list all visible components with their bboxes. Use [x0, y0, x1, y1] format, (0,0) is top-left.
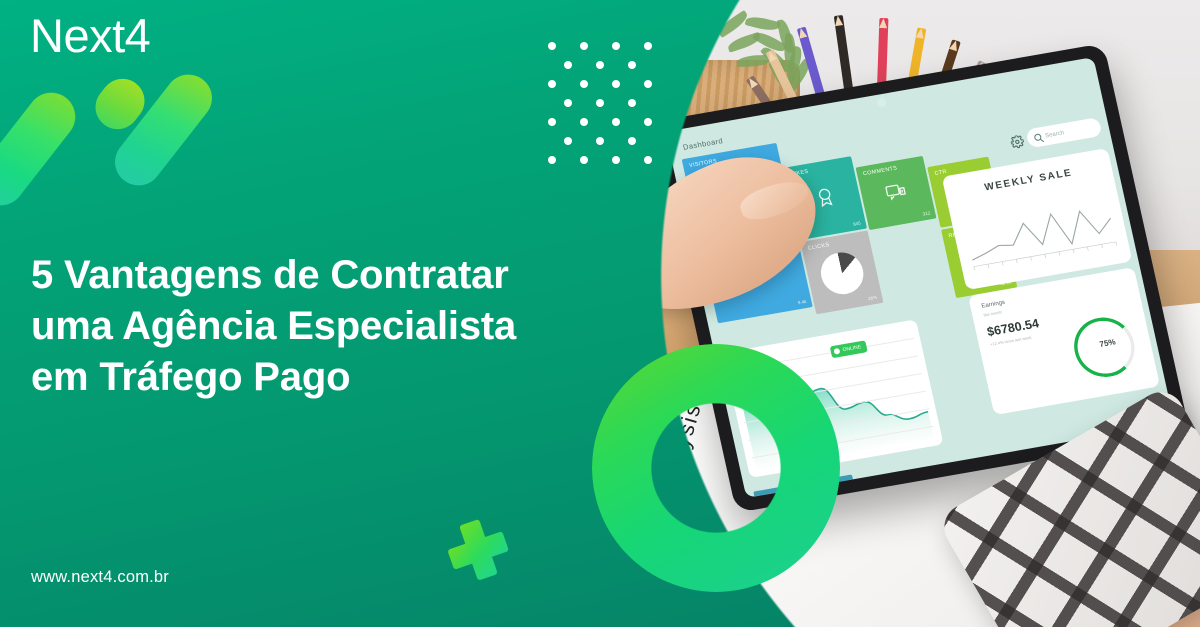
tile-label: CLICKS — [807, 242, 830, 252]
grid-dot — [628, 137, 636, 145]
grid-dot — [644, 80, 652, 88]
grid-dot — [564, 137, 572, 145]
tile-label: COMMENTS — [863, 165, 898, 177]
badge-dot-icon — [833, 348, 840, 355]
grid-dot — [612, 156, 620, 164]
grid-dot — [548, 156, 556, 164]
pie-chart-icon — [817, 250, 868, 298]
grid-dot — [580, 80, 588, 88]
brand-logo-text: Next4 — [30, 12, 150, 59]
badge-label: ONLINE — [842, 344, 862, 353]
grid-dot — [628, 61, 636, 69]
grid-dot — [612, 118, 620, 126]
grid-dot — [548, 80, 556, 88]
search-icon — [1034, 133, 1042, 141]
grid-dot — [628, 99, 636, 107]
earnings-label: Earnings — [981, 300, 1006, 310]
pencil-tip — [879, 18, 887, 28]
grid-dot — [548, 42, 556, 50]
grid-dot — [580, 42, 588, 50]
headline-line-3: em Tráfego Pago — [31, 352, 671, 403]
earnings-value: $6780.54 — [986, 316, 1040, 339]
grid-dot — [596, 137, 604, 145]
tile-value: 845 — [853, 221, 861, 227]
grid-dot — [580, 118, 588, 126]
grid-dot — [596, 99, 604, 107]
grid-dot — [564, 99, 572, 107]
green-ring-shape — [592, 344, 840, 592]
grid-dot — [644, 42, 652, 50]
grid-dot — [644, 118, 652, 126]
front-camera-icon — [876, 98, 887, 108]
index-finger — [737, 175, 813, 225]
gear-icon[interactable] — [1010, 134, 1026, 149]
pencil-tip — [949, 39, 960, 51]
grid-dot — [548, 118, 556, 126]
pencil-tip — [797, 27, 807, 39]
dashboard-tile-comments[interactable]: COMMENTS312 — [856, 156, 937, 230]
earnings-period: this month — [983, 309, 1002, 317]
pencil-tip — [916, 27, 926, 38]
weekly-sale-line-chart — [950, 187, 1130, 278]
brand-logo[interactable]: Next4 — [30, 12, 150, 59]
headline-line-1: 5 Vantagens de Contratar — [31, 250, 671, 301]
grid-dot — [596, 61, 604, 69]
pencil-tip — [834, 15, 843, 26]
grid-dot — [644, 156, 652, 164]
search-placeholder: Search — [1045, 130, 1065, 139]
page-title: 5 Vantagens de Contratar uma Agência Esp… — [31, 250, 671, 404]
tile-value: 312 — [922, 210, 930, 216]
green-plus-shape — [441, 513, 515, 587]
tile-value: 9.4k — [797, 299, 806, 305]
dashboard-title: Dashboard — [682, 136, 724, 152]
marketing-banner: Next4 5 Vantagens de Contratar uma Agênc… — [0, 0, 1200, 627]
grid-dot — [564, 61, 572, 69]
tile-value: 26% — [868, 295, 878, 301]
grid-dot — [580, 156, 588, 164]
chat-money-icon — [883, 179, 911, 209]
dot-grid-pattern — [548, 42, 668, 162]
grid-dot — [612, 80, 620, 88]
headline-line-2: uma Agência Especialista — [31, 301, 671, 352]
grid-dot — [612, 42, 620, 50]
dashboard-tile-clicks[interactable]: CLICKS26% — [800, 230, 883, 314]
logo-decor-bar-left — [0, 83, 85, 215]
award-badge-icon — [812, 184, 840, 214]
search-input[interactable]: Search — [1025, 117, 1102, 148]
leaf — [745, 14, 781, 33]
website-url[interactable]: www.next4.com.br — [31, 568, 169, 587]
